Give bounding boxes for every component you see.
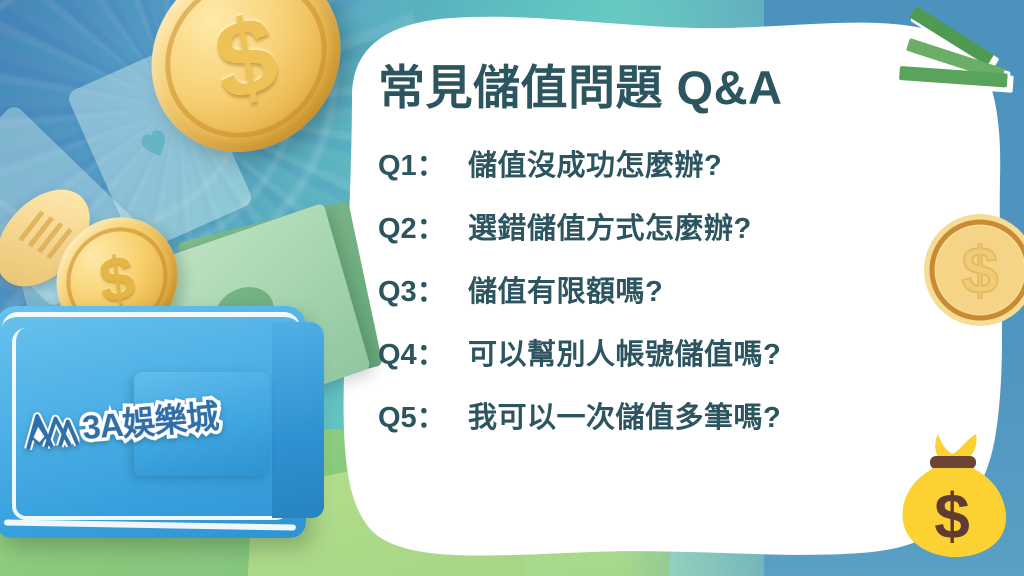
question-label: Q3： [378, 268, 456, 310]
question-text: 儲值沒成功怎麼辦? [468, 142, 722, 184]
question-row: Q5： 我可以一次儲值多筆嗎? [378, 394, 938, 436]
question-text: 我可以一次儲值多筆嗎? [468, 394, 781, 436]
question-row: Q3： 儲值有限額嗎? [378, 268, 938, 310]
question-label: Q4： [378, 331, 456, 373]
question-text: 儲值有限額嗎? [468, 268, 663, 310]
wallet-side-panel [272, 322, 324, 518]
wallet-illustration: $ 3A娛樂城 [0, 222, 386, 552]
question-row: Q1： 儲值沒成功怎麼辦? [378, 142, 938, 184]
question-label: Q2： [378, 205, 456, 247]
wallet-top-trim [2, 312, 300, 328]
question-text: 可以幫別人帳號儲值嗎? [468, 331, 781, 373]
page-title: 常見儲值問題 Q&A [378, 62, 938, 114]
triple-peak-emblem-icon [20, 403, 80, 454]
qa-content: 常見儲值問題 Q&A Q1： 儲值沒成功怎麼辦? Q2： 選錯儲值方式怎麼辦? … [378, 62, 938, 457]
question-row: Q2： 選錯儲值方式怎麼辦? [378, 205, 938, 247]
question-text: 選錯儲值方式怎麼辦? [468, 205, 752, 247]
svg-text:$: $ [934, 480, 970, 552]
question-row: Q4： 可以幫別人帳號儲值嗎? [378, 331, 938, 373]
poster-canvas: $ $ $ $ [0, 0, 1024, 576]
question-label: Q5： [378, 394, 456, 436]
question-label: Q1： [378, 142, 456, 184]
wallet-bottom-trim [4, 519, 296, 530]
question-list: Q1： 儲值沒成功怎麼辦? Q2： 選錯儲值方式怎麼辦? Q3： 儲值有限額嗎?… [378, 142, 938, 436]
svg-text:$: $ [962, 233, 999, 307]
